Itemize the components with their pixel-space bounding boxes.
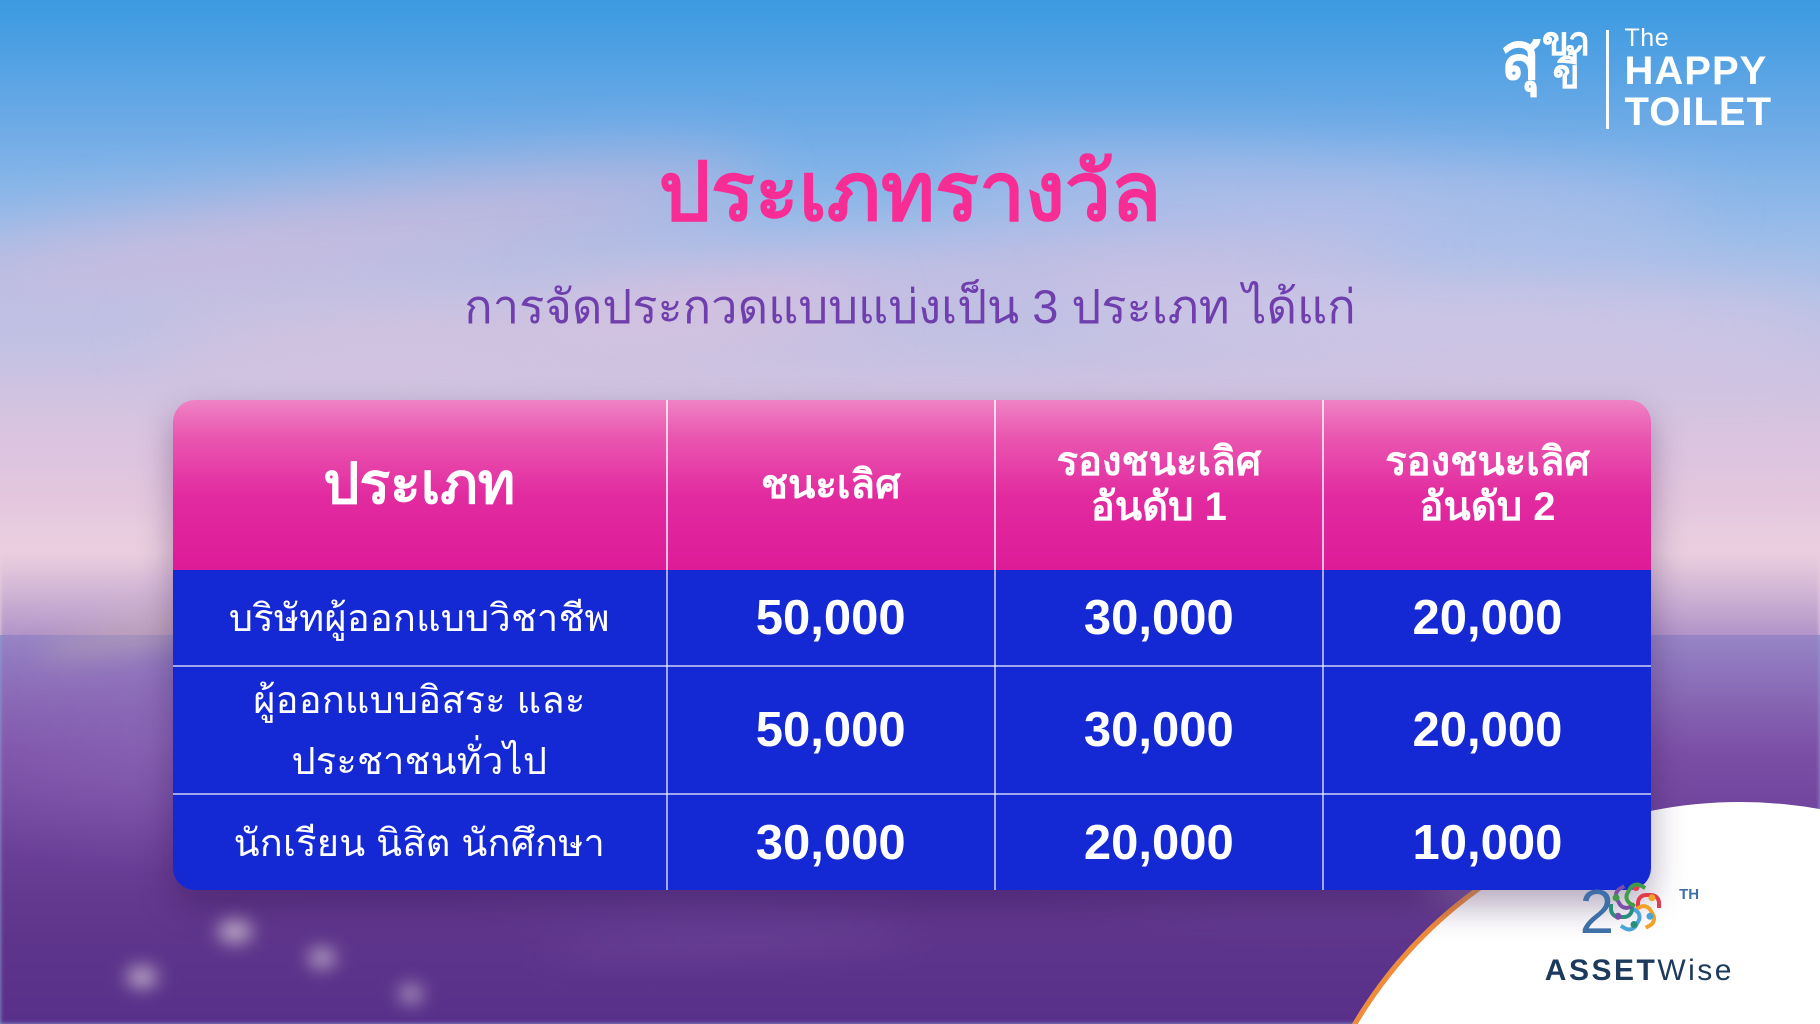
prize-table: ประเภท ชนะเลิศ รองชนะเลิศ อันดับ 1 รองชน… bbox=[173, 400, 1651, 890]
column-header-second-prize: รองชนะเลิศ อันดับ 1 bbox=[995, 400, 1323, 570]
cell-first-prize: 30,000 bbox=[667, 794, 995, 890]
assetwise-name-lower: Wise bbox=[1657, 954, 1734, 987]
cell-category: นักเรียน นิสิต นักศึกษา bbox=[173, 794, 667, 890]
prize-table-container: ประเภท ชนะเลิศ รองชนะเลิศ อันดับ 1 รองชน… bbox=[173, 400, 1651, 890]
table-row: บริษัทผู้ออกแบบวิชาชีพ 50,000 30,000 20,… bbox=[173, 570, 1651, 666]
column-header-category: ประเภท bbox=[173, 400, 667, 570]
cell-third-prize: 10,000 bbox=[1323, 794, 1651, 890]
logo-divider bbox=[1606, 30, 1609, 129]
assetwise-number: 2 bbox=[1580, 884, 1614, 943]
page-title: ประเภทรางวัล bbox=[0, 152, 1820, 234]
logo-thai-main: สุ bbox=[1500, 26, 1539, 87]
happy-toilet-logo: สุ ขา ขี้ The HAPPY TOILET bbox=[1500, 26, 1772, 133]
field-bloom bbox=[127, 967, 157, 987]
cell-second-prize: 20,000 bbox=[995, 794, 1323, 890]
table-header-row: ประเภท ชนะเลิศ รองชนะเลิศ อันดับ 1 รองชน… bbox=[173, 400, 1651, 570]
logo-thai-stack: ขา ขี้ bbox=[1542, 26, 1590, 92]
assetwise-logo: 2 TH ASSETWise bbox=[1545, 884, 1734, 988]
cell-first-prize: 50,000 bbox=[667, 666, 995, 794]
cell-first-prize: 50,000 bbox=[667, 570, 995, 666]
field-light-streak bbox=[546, 920, 911, 967]
field-bloom bbox=[218, 920, 252, 942]
column-header-first-prize: ชนะเลิศ bbox=[667, 400, 995, 570]
logo-thai-bottom: ขี้ bbox=[1552, 59, 1578, 92]
cell-third-prize: 20,000 bbox=[1323, 570, 1651, 666]
table-row: นักเรียน นิสิต นักศึกษา 30,000 20,000 10… bbox=[173, 794, 1651, 890]
page-subtitle: การจัดประกวดแบบแบ่งเป็น 3 ประเภท ได้แก่ bbox=[0, 282, 1820, 331]
assetwise-wordmark: ASSETWise bbox=[1545, 954, 1734, 988]
assetwise-anniversary-mark: 2 TH bbox=[1580, 884, 1699, 948]
cell-category: บริษัทผู้ออกแบบวิชาชีพ bbox=[173, 570, 667, 666]
assetwise-name-upper: ASSET bbox=[1545, 954, 1658, 987]
logo-word-toilet: TOILET bbox=[1625, 92, 1772, 133]
cell-second-prize: 30,000 bbox=[995, 570, 1323, 666]
field-bloom bbox=[400, 986, 422, 1002]
logo-wordmark: The HAPPY TOILET bbox=[1625, 26, 1772, 133]
people-circle-icon bbox=[1612, 884, 1678, 946]
prize-table-body: บริษัทผู้ออกแบบวิชาชีพ 50,000 30,000 20,… bbox=[173, 570, 1651, 890]
logo-thai-mark: สุ ขา ขี้ bbox=[1500, 26, 1605, 133]
logo-word-happy: HAPPY bbox=[1625, 51, 1772, 92]
table-row: ผู้ออกแบบอิสระ และประชาชนทั่วไป 50,000 3… bbox=[173, 666, 1651, 794]
cell-second-prize: 30,000 bbox=[995, 666, 1323, 794]
assetwise-ordinal: TH bbox=[1679, 886, 1699, 903]
prize-table-head: ประเภท ชนะเลิศ รองชนะเลิศ อันดับ 1 รองชน… bbox=[173, 400, 1651, 570]
column-header-third-prize: รองชนะเลิศ อันดับ 2 bbox=[1323, 400, 1651, 570]
cell-category: ผู้ออกแบบอิสระ และประชาชนทั่วไป bbox=[173, 666, 667, 794]
cell-third-prize: 20,000 bbox=[1323, 666, 1651, 794]
logo-word-the: The bbox=[1625, 26, 1772, 51]
field-bloom bbox=[309, 949, 335, 967]
